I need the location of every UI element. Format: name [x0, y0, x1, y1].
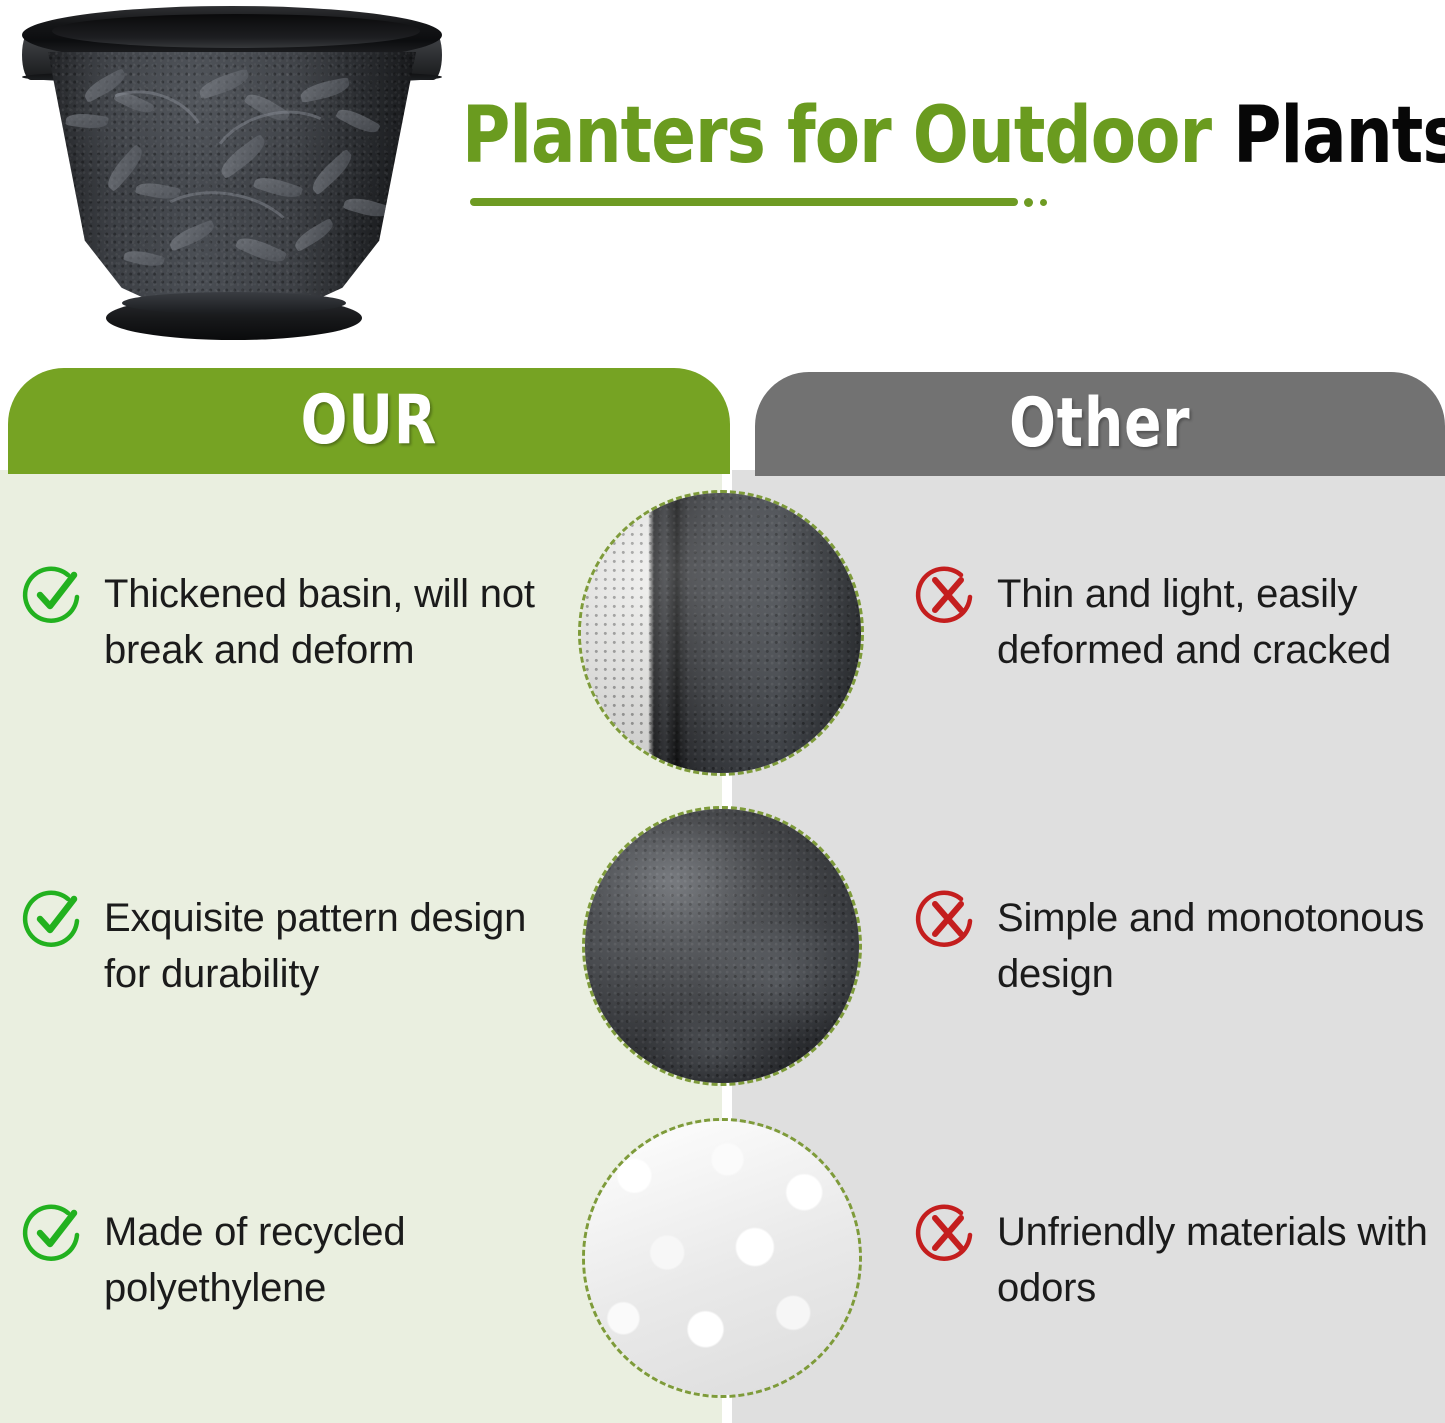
title-dot-large [1024, 198, 1033, 207]
page-title: Planters for Outdoor Plants [462, 92, 1364, 180]
planter-body [48, 52, 416, 314]
check-circle-icon [22, 1200, 86, 1264]
list-item: Made of recycled polyethylene [22, 1204, 542, 1316]
list-item-label: Unfriendly materials with odors [997, 1204, 1435, 1316]
list-item-label: Exquisite pattern design for durability [104, 890, 542, 1002]
cross-circle-icon [915, 886, 979, 950]
planter-rim-inner [52, 14, 420, 48]
other-header-banner: Other [755, 372, 1445, 476]
list-item: Exquisite pattern design for durability [22, 890, 542, 1002]
list-item-label: Thin and light, easily deformed and crac… [997, 566, 1435, 678]
planter-saucer-lip [122, 292, 346, 314]
title-dot-small [1040, 199, 1047, 206]
title-underline-rule [470, 198, 1018, 206]
rim-closeup-shading [581, 493, 861, 773]
comparison-section: OUR Other Thickened basin, will not brea… [0, 366, 1445, 1423]
list-item: Thin and light, easily deformed and crac… [915, 566, 1435, 678]
center-image-embossed-leaf-pattern [582, 806, 862, 1086]
title-green-text: Planters for Outdoor [462, 91, 1211, 181]
title-black-text: Plants [1211, 91, 1445, 181]
list-item: Simple and monotonous design [915, 890, 1435, 1002]
list-item-label: Simple and monotonous design [997, 890, 1435, 1002]
cross-circle-icon [915, 1200, 979, 1264]
list-item: Thickened basin, will not break and defo… [22, 566, 542, 678]
other-header-label: Other [1009, 389, 1190, 459]
our-header-banner: OUR [8, 368, 730, 474]
title-block: Planters for Outdoor Plants [462, 92, 1422, 242]
title-underline-group [470, 194, 1040, 210]
list-item-label: Made of recycled polyethylene [104, 1204, 542, 1316]
pattern-closeup-shading [585, 809, 859, 1083]
our-header-label: OUR [301, 386, 438, 456]
planter-product-photo [18, 4, 448, 356]
check-circle-icon [22, 562, 86, 626]
list-item-label: Thickened basin, will not break and defo… [104, 566, 542, 678]
center-image-polyethylene-pellets [582, 1118, 862, 1398]
pellets-art [585, 1121, 859, 1395]
center-image-planter-rim-closeup [578, 490, 864, 776]
hero-section: Planters for Outdoor Plants [0, 0, 1445, 368]
list-item: Unfriendly materials with odors [915, 1204, 1435, 1316]
cross-circle-icon [915, 562, 979, 626]
check-circle-icon [22, 886, 86, 950]
